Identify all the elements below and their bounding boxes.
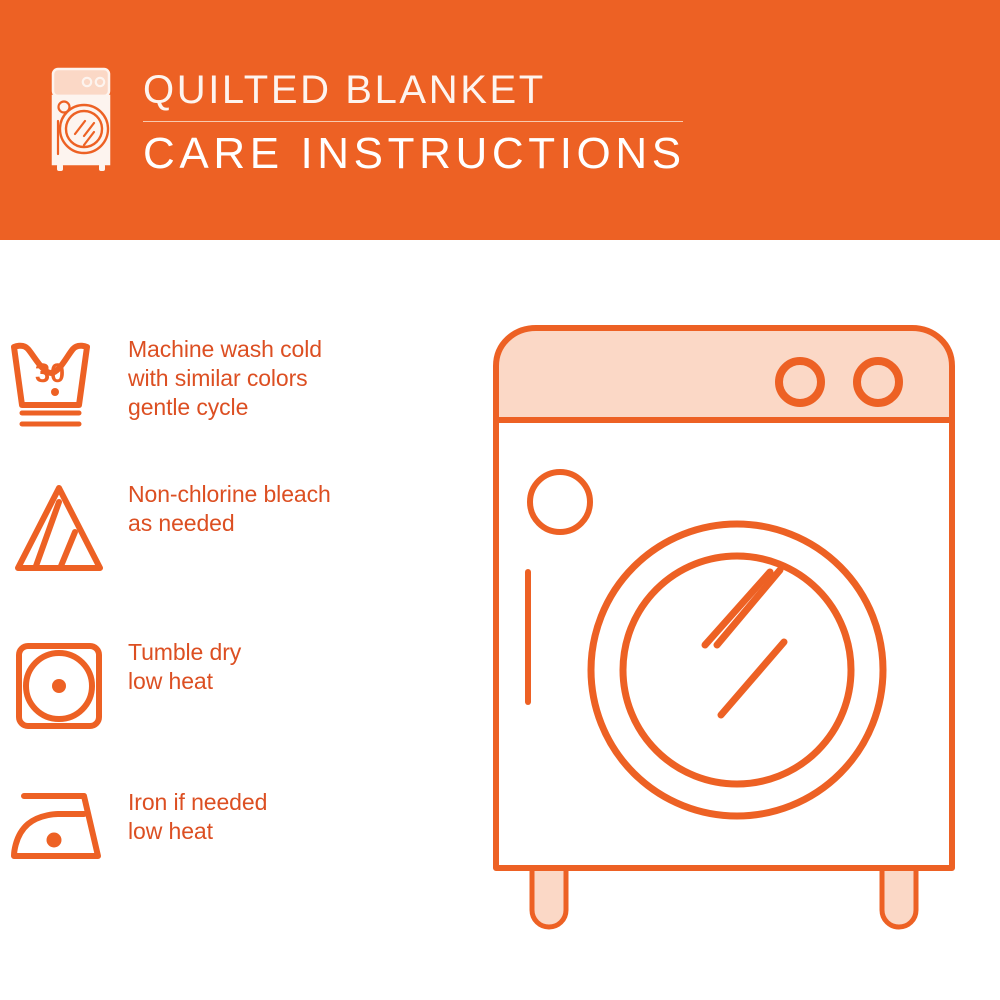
machine-leg-right — [882, 868, 916, 927]
instruction-row-bleach: Non-chlorine bleach as needed — [0, 480, 470, 576]
machine-wash-30-gentle-icon: 30 — [0, 335, 118, 431]
front-load-washing-machine-illustration — [480, 320, 970, 940]
instruction-label-iron: Iron if needed low heat — [128, 788, 267, 846]
instruction-row-iron: Iron if needed low heat — [0, 788, 470, 868]
instruction-row-tumble-dry: Tumble dry low heat — [0, 638, 470, 734]
care-instruction-list: 30 Machine wash cold with similar colors… — [0, 240, 470, 1000]
instruction-line: as needed — [128, 509, 331, 538]
non-chlorine-bleach-triangle-icon — [0, 480, 118, 576]
instruction-line: with similar colors — [128, 364, 322, 393]
machine-knob-left — [779, 361, 821, 403]
instruction-line: Non-chlorine bleach — [128, 480, 331, 509]
instruction-label-bleach: Non-chlorine bleach as needed — [128, 480, 331, 538]
page-title: QUILTED BLANKET — [143, 70, 703, 110]
instruction-line: Tumble dry — [128, 638, 241, 667]
instruction-line: Machine wash cold — [128, 335, 322, 364]
tumble-dry-low-heat-icon — [0, 638, 118, 734]
instruction-line: low heat — [128, 817, 267, 846]
title-divider — [143, 121, 683, 122]
instruction-row-machine-wash: 30 Machine wash cold with similar colors… — [0, 335, 470, 431]
machine-knob-right — [857, 361, 899, 403]
header-title-block: QUILTED BLANKET CARE INSTRUCTIONS — [143, 70, 703, 177]
machine-leg-left — [532, 868, 566, 927]
instruction-line: gentle cycle — [128, 393, 322, 422]
wash-temperature-value: 30 — [35, 358, 65, 388]
care-instructions-page: QUILTED BLANKET CARE INSTRUCTIONS 30 Mac… — [0, 0, 1000, 1000]
instruction-line: low heat — [128, 667, 241, 696]
instruction-label-machine-wash: Machine wash cold with similar colors ge… — [128, 335, 322, 422]
instruction-line: Iron if needed — [128, 788, 267, 817]
instruction-label-tumble-dry: Tumble dry low heat — [128, 638, 241, 696]
iron-low-heat-icon — [0, 788, 118, 868]
header-banner: QUILTED BLANKET CARE INSTRUCTIONS — [0, 0, 1000, 240]
page-subtitle: CARE INSTRUCTIONS — [143, 131, 703, 177]
washing-machine-logo-icon — [44, 66, 112, 172]
